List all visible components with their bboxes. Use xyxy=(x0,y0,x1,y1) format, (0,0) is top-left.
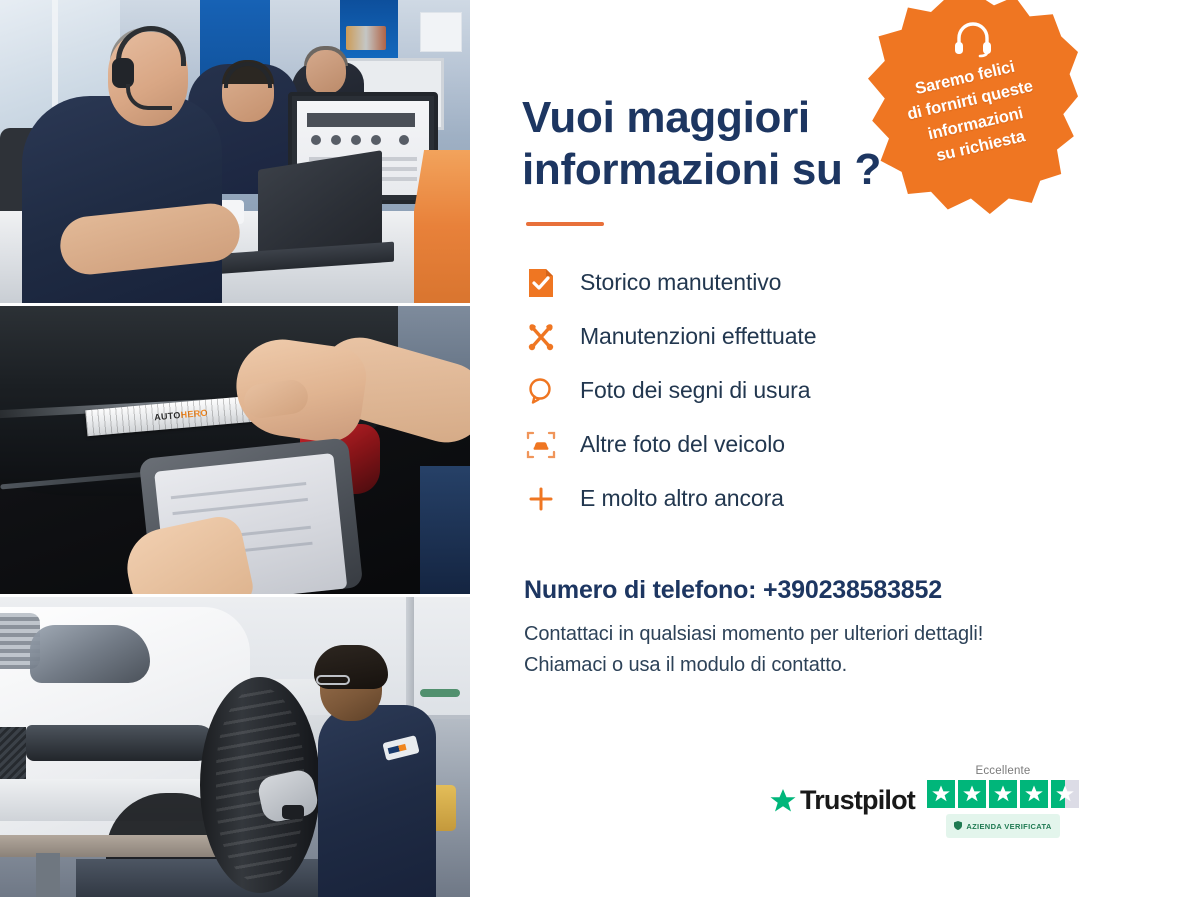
accent-divider xyxy=(526,222,604,226)
screen-icon xyxy=(331,135,341,145)
bumper-vent xyxy=(26,725,216,761)
headset-icon xyxy=(952,18,994,58)
call-center-agents-photo xyxy=(0,0,470,303)
mechanic-glasses xyxy=(316,675,350,685)
list-item: E molto altro ancora xyxy=(524,472,1200,526)
contact-line-2: Chiamaci o usa il modulo di contatto. xyxy=(524,650,1200,681)
orange-equipment xyxy=(414,150,470,303)
list-item: Altre foto del veicolo xyxy=(524,418,1200,472)
wall-notice xyxy=(420,12,462,52)
list-item-label: Storico manutentivo xyxy=(580,269,781,296)
feature-list: Storico manutentivo Manutenzi xyxy=(524,256,1200,526)
trustpilot-rating: Eccellente xyxy=(927,765,1079,838)
agent-3-head xyxy=(306,50,346,94)
list-item: Manutenzioni effettuate xyxy=(524,310,1200,364)
rating-label: Eccellente xyxy=(975,765,1030,777)
agent-1-body xyxy=(22,96,222,303)
tablet-text-row xyxy=(172,498,308,515)
contact-line-1: Contattaci in qualsiasi momento per ulte… xyxy=(524,619,1200,650)
list-item-label: Manutenzioni effettuate xyxy=(580,323,816,350)
plus-icon xyxy=(524,482,558,516)
status-badge: Saremo felici di fornirti queste informa… xyxy=(868,0,1078,214)
half-star-icon xyxy=(1051,780,1079,808)
star-icon xyxy=(958,780,986,808)
list-item-label: Altre foto del veicolo xyxy=(580,431,785,458)
screen-icon xyxy=(311,135,321,145)
star-icon xyxy=(989,780,1017,808)
screen-icon xyxy=(371,135,381,145)
contact-description: Contattaci in qualsiasi momento per ulte… xyxy=(524,619,1200,681)
contact-block: Numero di telefono: +390238583852 Contat… xyxy=(524,576,1200,681)
workshop-tire-change-photo xyxy=(0,597,470,897)
trustpilot-widget[interactable]: Trustpilot Eccellente xyxy=(770,765,1079,838)
screen-icon xyxy=(351,135,361,145)
star-icon xyxy=(927,780,955,808)
list-item-label: E molto altro ancora xyxy=(580,485,784,512)
verified-badge-label: AZIENDA VERIFICATA xyxy=(966,822,1051,831)
lift-post xyxy=(36,853,60,897)
poster-image xyxy=(346,26,386,50)
promo-page: AUTOHERO xyxy=(0,0,1200,900)
car-headlight xyxy=(30,625,150,683)
background-blur xyxy=(420,466,470,594)
trustpilot-wordmark: Trustpilot xyxy=(800,785,915,816)
crossed-tools-icon xyxy=(524,320,558,354)
green-object xyxy=(420,689,460,697)
magnifier-icon xyxy=(524,374,558,408)
mechanic-wristwatch xyxy=(282,805,304,819)
photo-column: AUTOHERO xyxy=(0,0,470,900)
verified-company-badge: AZIENDA VERIFICATA xyxy=(946,814,1059,838)
mechanic-body xyxy=(318,705,436,897)
star-rating xyxy=(927,780,1079,808)
screen-toolbar xyxy=(307,113,415,127)
vehicle-inspection-photo: AUTOHERO xyxy=(0,306,470,594)
trustpilot-logo: Trustpilot xyxy=(770,785,915,816)
screen-icon xyxy=(399,135,409,145)
list-item-label: Foto dei segni di usura xyxy=(580,377,810,404)
phone-number-label: Numero di telefono: +390238583852 xyxy=(524,576,1200,605)
car-viewfinder-icon xyxy=(524,428,558,462)
list-item: Foto dei segni di usura xyxy=(524,364,1200,418)
content-panel: Vuoi maggiori informazioni su ? Storico … xyxy=(470,0,1200,900)
shield-icon xyxy=(954,817,962,835)
trustpilot-star-icon xyxy=(770,788,796,814)
tablet-text-row xyxy=(171,482,307,499)
star-icon xyxy=(1020,780,1048,808)
list-item: Storico manutentivo xyxy=(524,256,1200,310)
document-check-icon xyxy=(524,266,558,300)
